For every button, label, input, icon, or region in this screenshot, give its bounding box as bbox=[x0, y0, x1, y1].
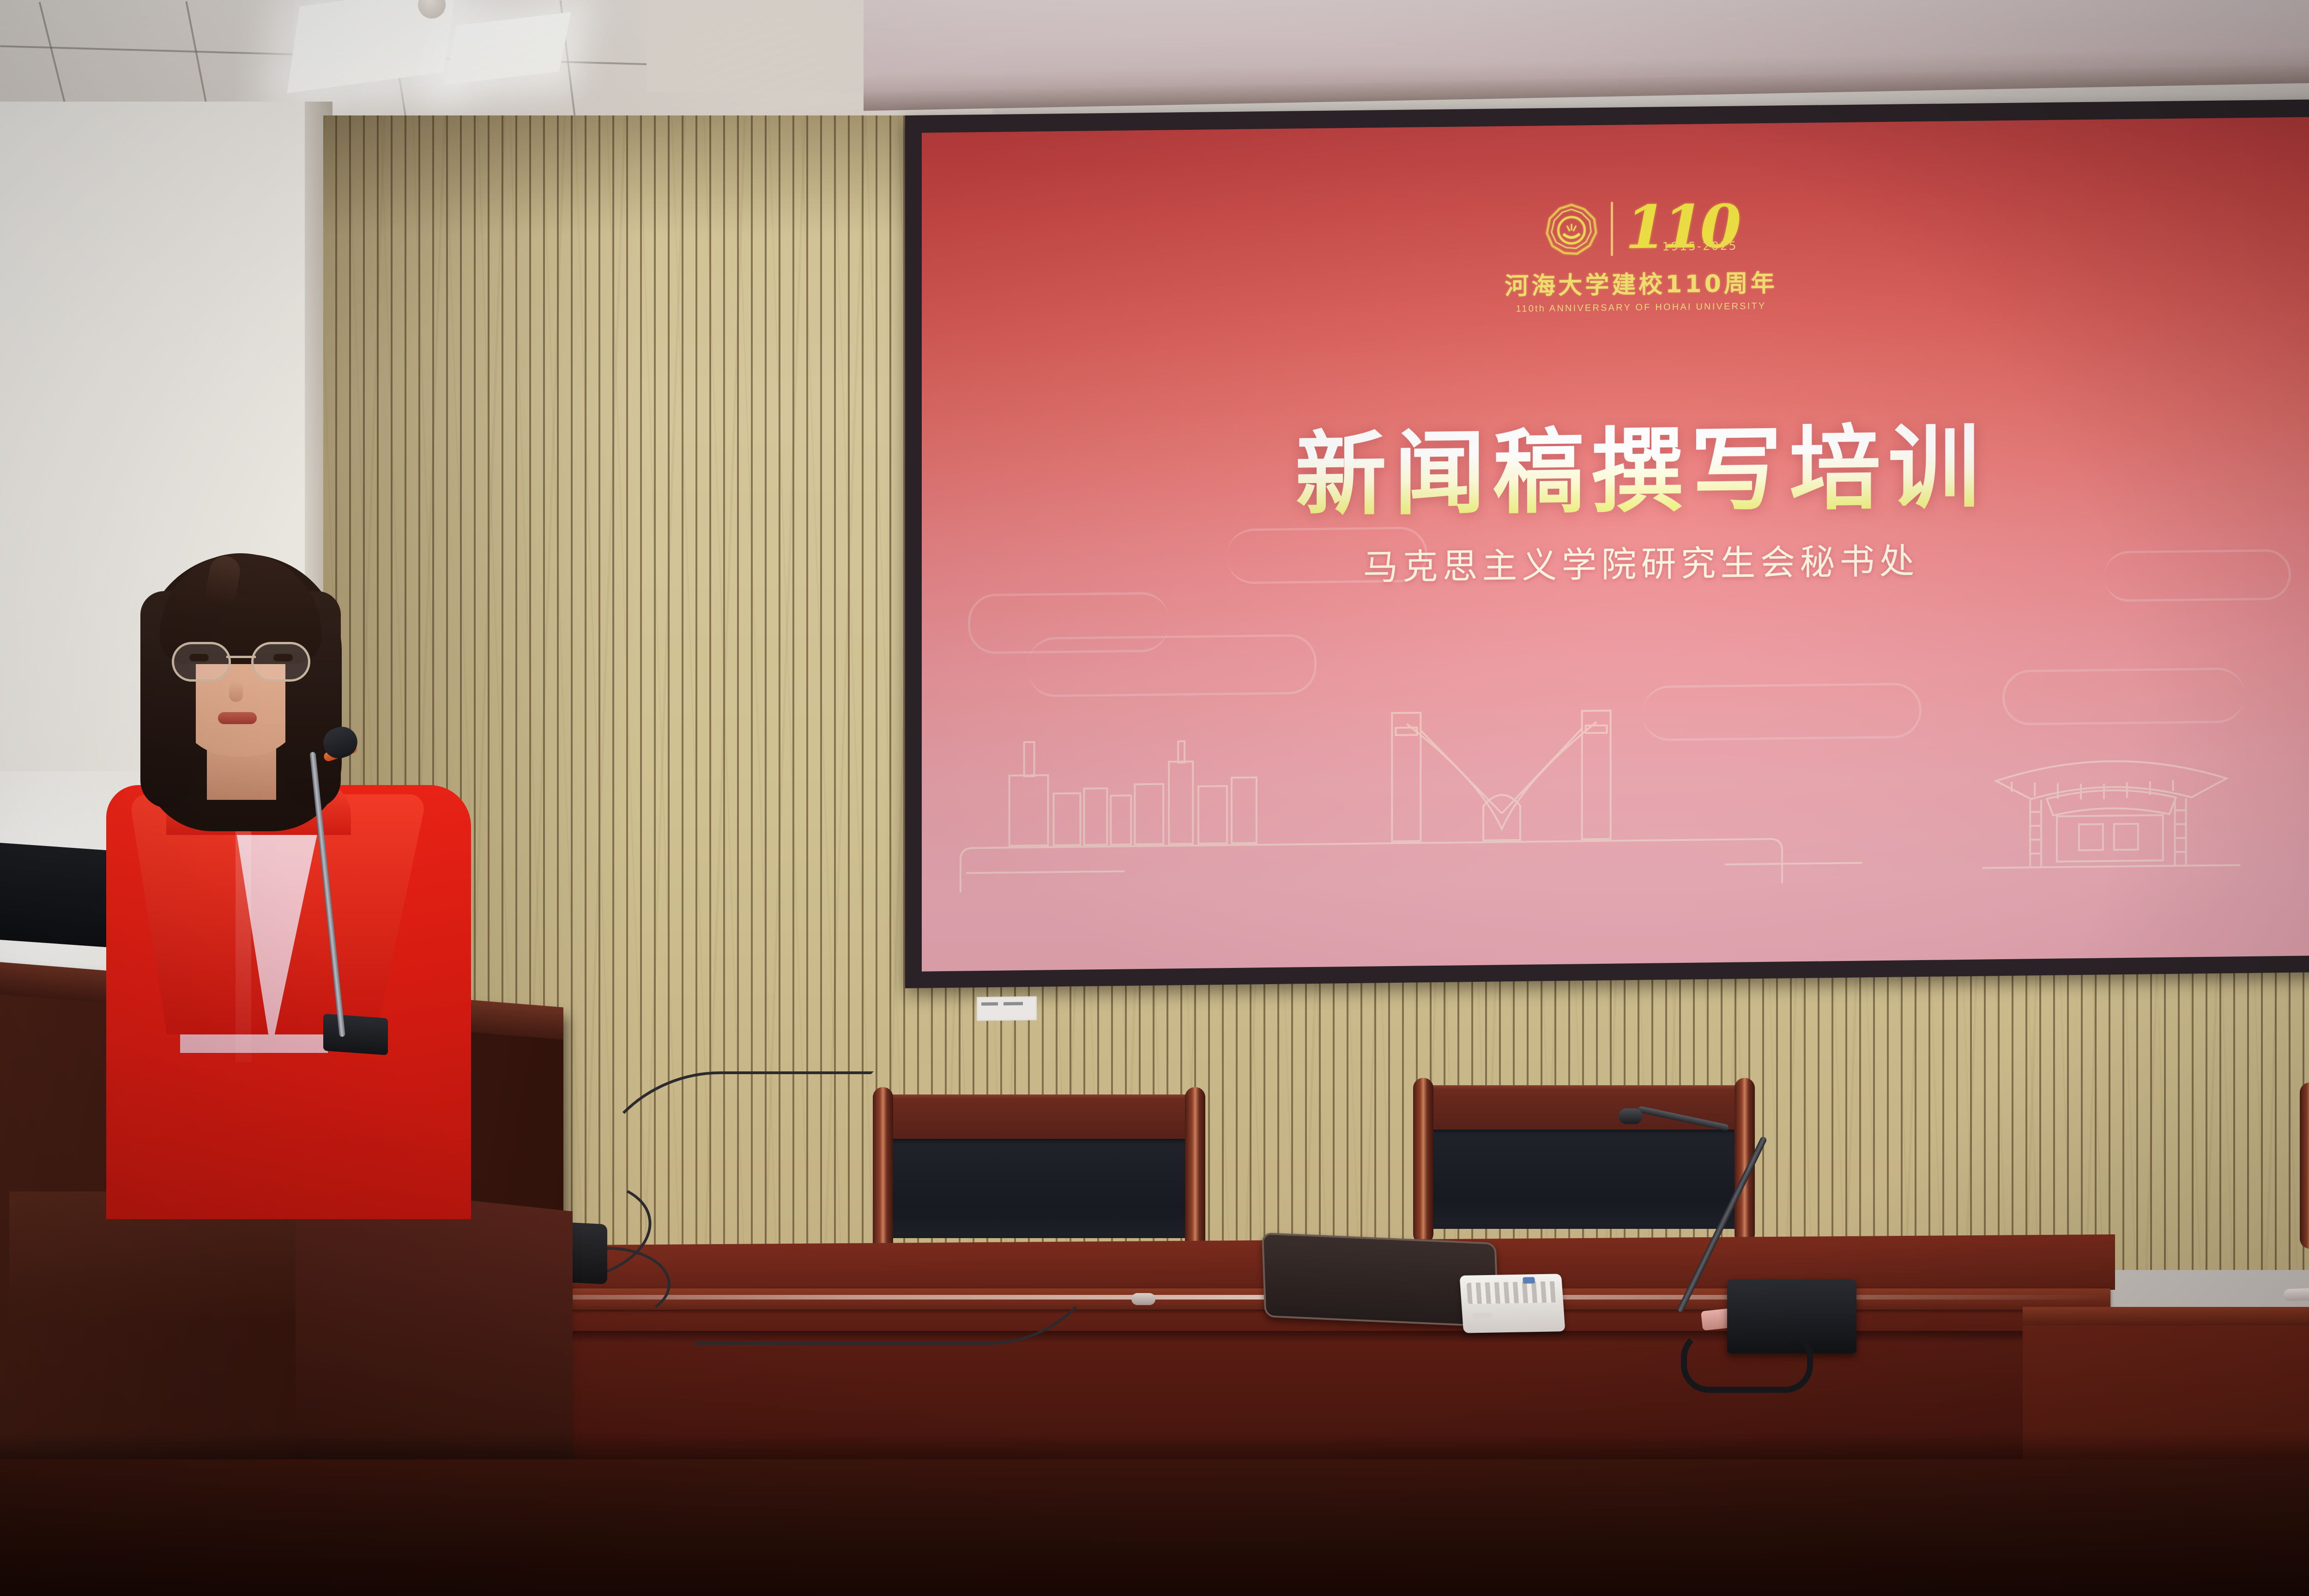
chair-post-left bbox=[1413, 1078, 1433, 1244]
projector-remote[interactable] bbox=[1460, 1274, 1566, 1333]
nose bbox=[229, 682, 243, 702]
conference-mic-capsule bbox=[1619, 1108, 1643, 1124]
anniversary-logo: 110 1915-2025 河海大学建校110周年 110th ANNIVERS… bbox=[1493, 192, 1789, 314]
slide-subtitle: 马克思主义学院研究生会秘书处 bbox=[1363, 532, 1919, 590]
remote-buttons bbox=[1467, 1281, 1557, 1304]
anniversary-years: 1915-2025 bbox=[1662, 239, 1737, 254]
glasses-icon bbox=[172, 642, 310, 679]
eye-left bbox=[189, 654, 209, 661]
chair-center[interactable] bbox=[1413, 1085, 1755, 1242]
logo-chinese-line: 河海大学建校110周年 bbox=[1505, 264, 1777, 302]
projected-slide: 110 1915-2025 河海大学建校110周年 110th ANNIVERS… bbox=[922, 116, 2309, 971]
conference-mic-cable bbox=[1681, 1330, 1813, 1393]
chair-back-pad bbox=[1429, 1130, 1739, 1229]
cloud-motif-icon bbox=[2104, 549, 2291, 602]
equipment-label-sticker bbox=[977, 996, 1037, 1021]
photo-scene: 110 1915-2025 河海大学建校110周年 110th ANNIVERS… bbox=[0, 0, 2309, 1596]
projection-screen-frame: 110 1915-2025 河海大学建校110周年 110th ANNIVERS… bbox=[905, 99, 2309, 988]
slide-title: 新闻稿撰写培训 bbox=[1295, 393, 1987, 533]
jacket-placket bbox=[236, 822, 251, 1062]
table-edge-top bbox=[2023, 1307, 2309, 1325]
glasses-bridge bbox=[226, 656, 256, 658]
logo-english-line: 110th ANNIVERSARY OF HOHAI UNIVERSITY bbox=[1516, 301, 1766, 314]
chair-post-left bbox=[2300, 1082, 2309, 1249]
mouth bbox=[218, 712, 257, 724]
cable-strand bbox=[693, 1219, 1114, 1345]
chair-post-right bbox=[1185, 1087, 1205, 1253]
podium-mic-base bbox=[323, 1014, 388, 1055]
remote-indicator bbox=[1523, 1277, 1535, 1283]
logo-top-row: 110 1915-2025 bbox=[1544, 193, 1737, 265]
foreground-desk bbox=[0, 1459, 2309, 1596]
eye-right bbox=[273, 654, 293, 661]
logo-divider bbox=[1611, 202, 1613, 256]
skyline-line-art-icon bbox=[922, 683, 2309, 893]
desk-small-item bbox=[1131, 1293, 1155, 1305]
lens-right bbox=[251, 642, 310, 682]
university-seal-icon bbox=[1544, 202, 1599, 257]
remote-label bbox=[1472, 1313, 1493, 1319]
chair-crest bbox=[873, 1094, 1205, 1141]
presenter bbox=[92, 536, 490, 1228]
chair-right[interactable] bbox=[2300, 1090, 2309, 1247]
cloud-motif-icon bbox=[1028, 634, 1317, 697]
lens-left bbox=[172, 642, 231, 682]
desk-white-item bbox=[2284, 1288, 2309, 1301]
